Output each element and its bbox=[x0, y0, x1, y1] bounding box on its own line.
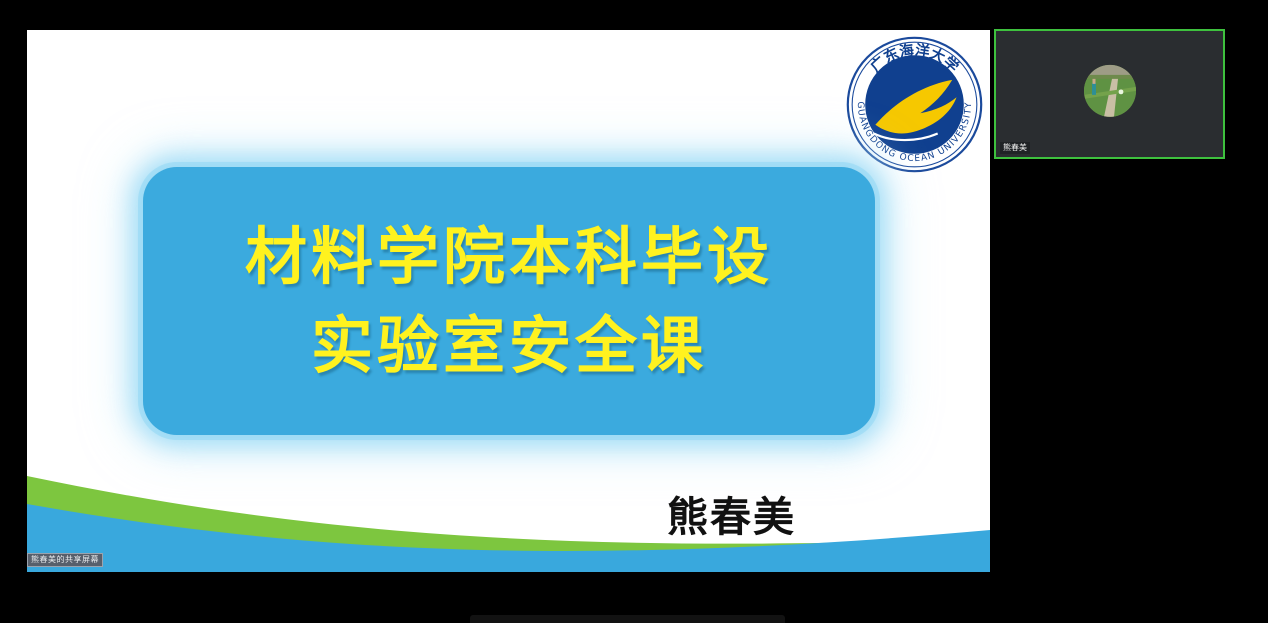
participant-avatar bbox=[1084, 65, 1136, 117]
participant-name-label: 熊春美 bbox=[1000, 142, 1030, 154]
slide-wave-decoration bbox=[27, 452, 990, 572]
presentation-slide: 广东海洋大学 GUANGDONG OCEAN UNIVERSITY 1935 材… bbox=[27, 30, 990, 572]
slide-title-line-1: 材料学院本科毕设 bbox=[245, 224, 773, 289]
guangdong-ocean-university-logo-icon: 广东海洋大学 GUANGDONG OCEAN UNIVERSITY 1935 bbox=[842, 32, 987, 177]
shared-screen-region[interactable]: 广东海洋大学 GUANGDONG OCEAN UNIVERSITY 1935 材… bbox=[27, 30, 990, 572]
zoom-meeting-screen: 广东海洋大学 GUANGDONG OCEAN UNIVERSITY 1935 材… bbox=[0, 0, 1268, 623]
slide-title-panel: 材料学院本科毕设 实验室安全课 bbox=[143, 167, 875, 435]
svg-text:1935: 1935 bbox=[903, 141, 926, 150]
screen-share-indicator-badge: 熊春美的共享屏幕 bbox=[27, 553, 103, 567]
participant-video-tile[interactable]: 熊春美 bbox=[994, 29, 1225, 159]
meeting-control-toolbar[interactable] bbox=[470, 615, 785, 623]
slide-title-line-2: 实验室安全课 bbox=[311, 313, 707, 378]
